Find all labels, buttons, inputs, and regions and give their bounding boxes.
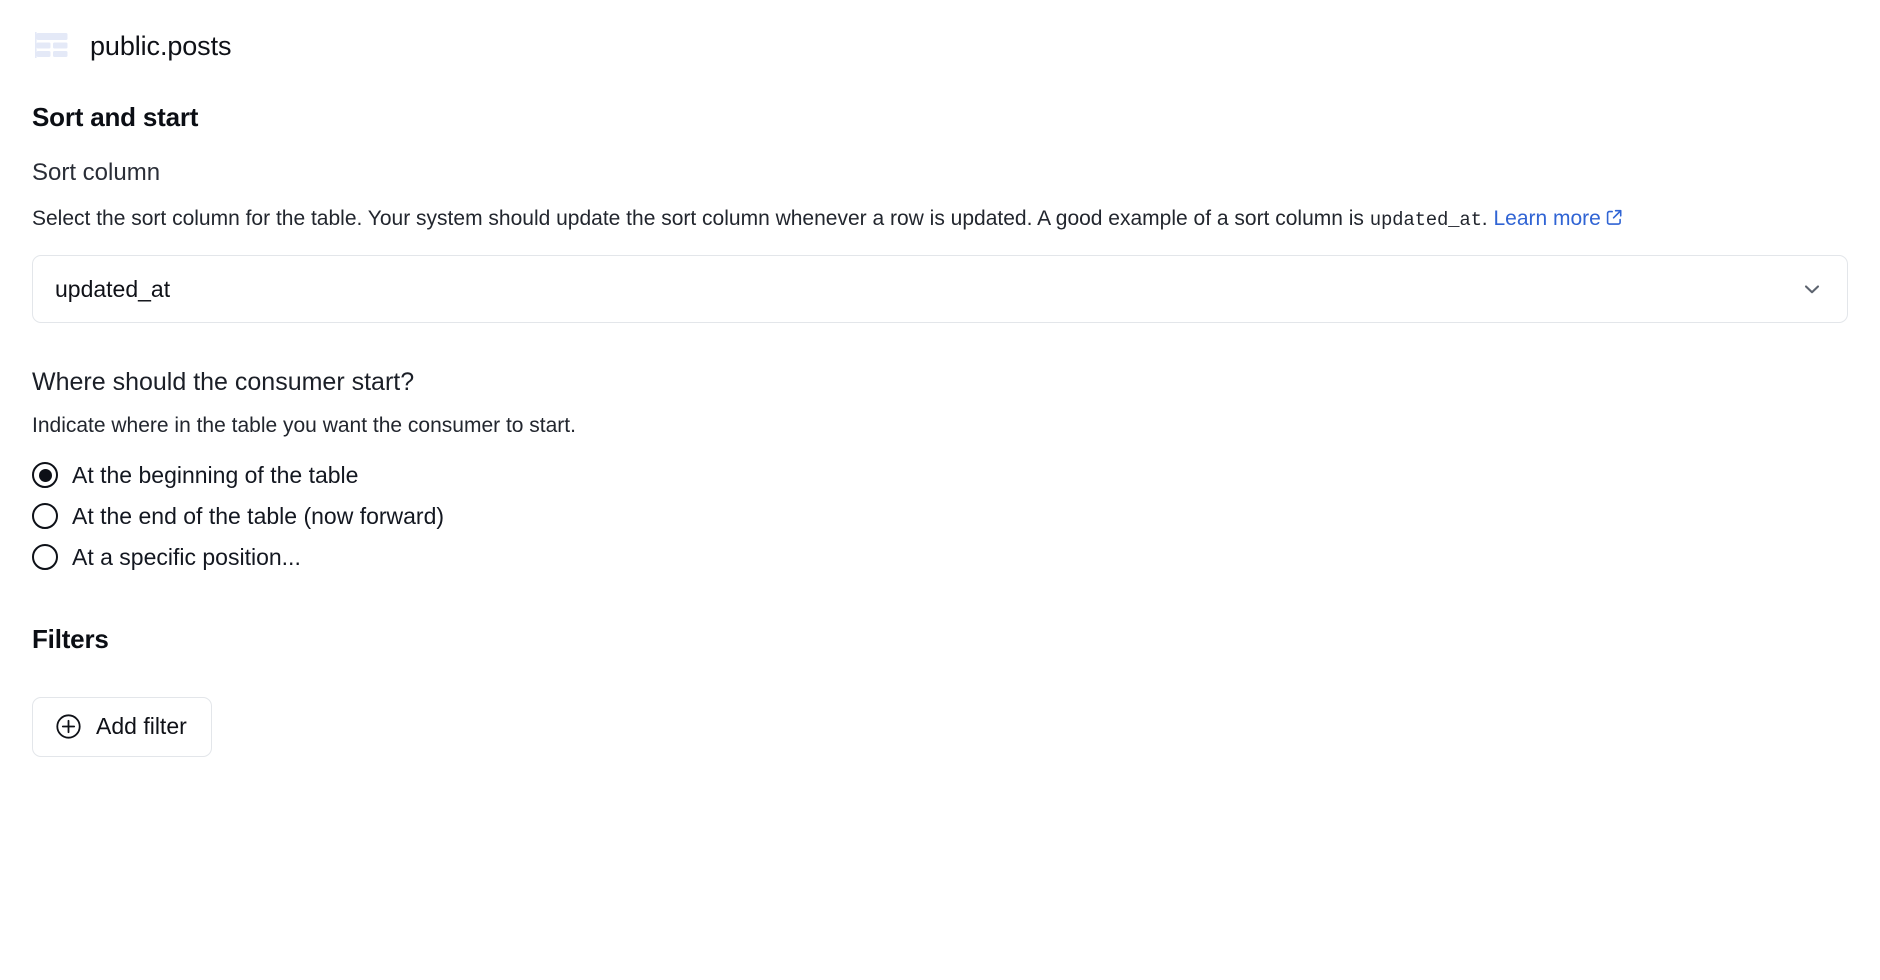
radio-option-label: At the end of the table (now forward) — [72, 505, 444, 528]
sort-column-label: Sort column — [32, 159, 1848, 188]
learn-more-label: Learn more — [1493, 207, 1600, 230]
learn-more-link[interactable]: Learn more — [1493, 207, 1622, 230]
section-title: Sort and start — [32, 102, 1848, 133]
sort-column-help-text-2: . — [1482, 207, 1494, 230]
radio-option-end[interactable]: At the end of the table (now forward) — [32, 500, 1848, 533]
chevron-down-icon[interactable] — [1799, 276, 1825, 302]
radio-mark[interactable] — [32, 544, 58, 570]
radio-mark[interactable] — [32, 503, 58, 529]
add-filter-button[interactable]: Add filter — [32, 697, 212, 757]
sort-column-help-text-1: Select the sort column for the table. Yo… — [32, 207, 1370, 230]
sort-column-select[interactable]: updated_at — [32, 255, 1848, 323]
add-filter-label: Add filter — [96, 715, 187, 738]
filters-title: Filters — [32, 624, 1848, 655]
table-header: public.posts — [32, 0, 1848, 70]
radio-mark[interactable] — [32, 462, 58, 488]
consumer-start-question: Where should the consumer start? — [32, 367, 1848, 397]
sort-and-start-page: public.posts Sort and start Sort column … — [0, 0, 1880, 980]
plus-circle-icon — [55, 713, 82, 740]
consumer-start-help: Indicate where in the table you want the… — [32, 411, 1848, 440]
radio-option-specific-position[interactable]: At a specific position... — [32, 541, 1848, 574]
external-link-icon — [1606, 209, 1623, 226]
consumer-start-radio-group: At the beginning of the table At the end… — [32, 459, 1848, 574]
radio-option-label: At a specific position... — [72, 546, 301, 569]
page-title: public.posts — [90, 33, 231, 60]
radio-option-label: At the beginning of the table — [72, 464, 358, 487]
table-icon — [32, 26, 72, 66]
sort-column-help: Select the sort column for the table. Yo… — [32, 202, 1842, 235]
sort-column-select-value: updated_at — [55, 278, 170, 301]
sort-column-help-code: updated_at — [1370, 209, 1482, 231]
radio-option-beginning[interactable]: At the beginning of the table — [32, 459, 1848, 492]
